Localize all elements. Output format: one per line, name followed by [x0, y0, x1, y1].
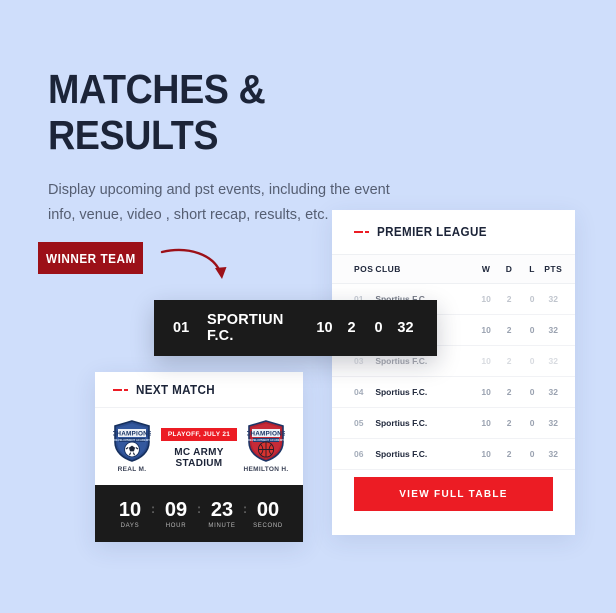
winner-team-label: WINNER TEAM — [46, 251, 136, 266]
next-match-card: NEXT MATCH CHAMPIONS DEVELOPMENT ACADEMY… — [95, 372, 303, 542]
row-w: 10 — [475, 408, 498, 439]
curved-arrow-icon — [158, 240, 234, 288]
league-card-header: PREMIER LEAGUE — [332, 210, 575, 254]
row-l: 0 — [521, 346, 544, 377]
next-match-title: NEXT MATCH — [136, 383, 215, 397]
column-header-club: CLUB — [375, 255, 474, 284]
svg-text:DEVELOPMENT ACADEMY: DEVELOPMENT ACADEMY — [114, 438, 150, 442]
row-pos: 05 — [332, 408, 375, 439]
highlight-l: 0 — [365, 320, 392, 336]
row-d: 2 — [498, 439, 521, 470]
row-w: 10 — [475, 315, 498, 346]
row-club: Sportius F.C. — [375, 439, 474, 470]
highlight-d: 2 — [338, 320, 365, 336]
row-w: 10 — [475, 439, 498, 470]
stadium-name: MC ARMY STADIUM — [156, 447, 242, 469]
row-pts: 32 — [544, 284, 575, 315]
away-team-crest-icon: CHAMPIONS DEVELOPMENT ACADEMY — [247, 420, 285, 462]
away-team-name: HEMILTON H. — [244, 466, 289, 473]
svg-text:CHAMPIONS: CHAMPIONS — [113, 430, 151, 437]
row-d: 2 — [498, 315, 521, 346]
row-d: 2 — [498, 377, 521, 408]
premier-league-card: PREMIER LEAGUE POS CLUB W D L PTS 01 Spo… — [332, 210, 575, 535]
row-l: 0 — [521, 284, 544, 315]
row-club: Sportius F.C. — [375, 408, 474, 439]
home-team-name: REAL M. — [118, 466, 147, 473]
match-info: PLAYOFF, JULY 21 MC ARMY STADIUM — [156, 423, 242, 469]
next-match-body: CHAMPIONS DEVELOPMENT ACADEMY REAL M. PL… — [95, 408, 303, 485]
row-l: 0 — [521, 377, 544, 408]
highlight-club: SPORTIUN F.C. — [207, 312, 311, 344]
highlight-pos: 01 — [173, 320, 207, 336]
row-l: 0 — [521, 439, 544, 470]
column-header-w: W — [475, 255, 498, 284]
row-pts: 32 — [544, 346, 575, 377]
row-d: 2 — [498, 408, 521, 439]
away-team: CHAMPIONS DEVELOPMENT ACADEMY HEMILTON H… — [242, 420, 290, 473]
column-header-d: D — [498, 255, 521, 284]
row-w: 10 — [475, 346, 498, 377]
row-l: 0 — [521, 408, 544, 439]
countdown-second-label: SECOND — [248, 523, 288, 529]
countdown-timer: 10 DAYS : 09 HOUR : 23 MINUTE : 00 SECON… — [95, 485, 303, 542]
row-l: 0 — [521, 315, 544, 346]
row-w: 10 — [475, 377, 498, 408]
countdown-second: 00 SECOND — [248, 499, 288, 529]
view-full-table-button[interactable]: VIEW FULL TABLE — [354, 477, 553, 511]
table-row[interactable]: 04 Sportius F.C. 10 2 0 32 — [332, 377, 575, 408]
row-pts: 32 — [544, 408, 575, 439]
winner-team-badge: WINNER TEAM — [38, 242, 143, 274]
home-team-crest-icon: CHAMPIONS DEVELOPMENT ACADEMY — [113, 420, 151, 462]
row-pts: 32 — [544, 315, 575, 346]
row-w: 10 — [475, 284, 498, 315]
winner-highlight-row[interactable]: 01 SPORTIUN F.C. 10 2 0 32 — [154, 300, 437, 356]
league-table: POS CLUB W D L PTS 01 Sportius F.C. 10 2… — [332, 254, 575, 470]
row-d: 2 — [498, 346, 521, 377]
countdown-days-label: DAYS — [110, 523, 150, 529]
countdown-hour-value: 09 — [156, 499, 196, 521]
countdown-minute-value: 23 — [202, 499, 242, 521]
playoff-badge: PLAYOFF, JULY 21 — [161, 428, 237, 441]
countdown-minute-label: MINUTE — [202, 523, 242, 529]
page-heading-block: MATCHES & RESULTS Display upcoming and p… — [48, 66, 478, 228]
row-pos: 04 — [332, 377, 375, 408]
countdown-second-value: 00 — [248, 499, 288, 521]
league-table-header-row: POS CLUB W D L PTS — [332, 255, 575, 284]
dash-accent-icon — [113, 389, 128, 391]
row-d: 2 — [498, 284, 521, 315]
countdown-hour-label: HOUR — [156, 523, 196, 529]
row-pos: 06 — [332, 439, 375, 470]
row-pts: 32 — [544, 377, 575, 408]
svg-text:CHAMPIONS: CHAMPIONS — [247, 430, 285, 437]
column-header-l: L — [521, 255, 544, 284]
column-header-pts: PTS — [544, 255, 575, 284]
table-row[interactable]: 05 Sportius F.C. 10 2 0 32 — [332, 408, 575, 439]
table-row[interactable]: 06 Sportius F.C. 10 2 0 32 — [332, 439, 575, 470]
page-title: MATCHES & RESULTS — [48, 66, 444, 158]
row-pts: 32 — [544, 439, 575, 470]
highlight-w: 10 — [311, 320, 338, 336]
column-header-pos: POS — [332, 255, 375, 284]
dash-accent-icon — [354, 231, 369, 233]
home-team: CHAMPIONS DEVELOPMENT ACADEMY REAL M. — [108, 420, 156, 473]
countdown-hour: 09 HOUR — [156, 499, 196, 529]
countdown-days: 10 DAYS — [110, 499, 150, 529]
next-match-header: NEXT MATCH — [95, 372, 303, 408]
highlight-pts: 32 — [392, 320, 419, 336]
countdown-days-value: 10 — [110, 499, 150, 521]
league-card-title: PREMIER LEAGUE — [377, 225, 487, 239]
row-club: Sportius F.C. — [375, 377, 474, 408]
countdown-minute: 23 MINUTE — [202, 499, 242, 529]
